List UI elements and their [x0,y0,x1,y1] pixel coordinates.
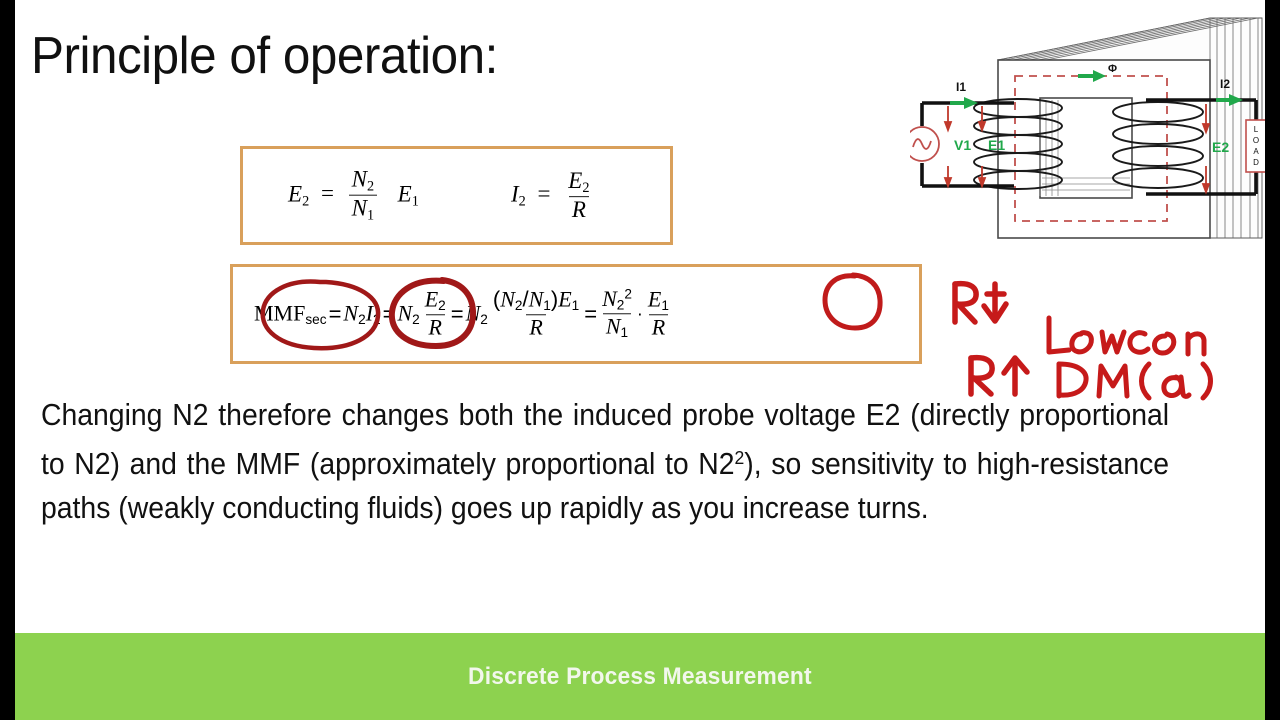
flux-label: Φ [1108,63,1117,75]
eq2-lhs-sub: 2 [519,193,526,209]
page-title: Principle of operation: [31,26,498,86]
term2-den: R [429,315,442,340]
e2-label: E2 [1212,139,1229,155]
term1-n: N [343,301,358,326]
v1-label: V1 [954,137,971,153]
footer-label: Discrete Process Measurement [468,663,812,691]
term4-num2: E [648,287,661,312]
ac-source-icon [910,127,939,161]
eq1-lhs: E [288,181,302,206]
mmf-equals-1: = [329,301,342,327]
eq1-den: N [352,196,367,221]
footer-banner: Discrete Process Measurement [15,633,1265,720]
eq1-num: N [352,166,367,191]
term3-n: N [466,301,481,326]
term1-i: I [366,301,373,326]
eq1-fraction: N2 N1 [349,167,377,224]
term3-den: R [529,315,542,340]
eq2-equals: = [538,181,551,206]
term2-n: N [397,301,412,326]
term4-dot: · [637,304,643,325]
mmf-label: MMF [254,301,305,326]
i2-label: I2 [1220,77,1230,91]
transformer-diagram: Φ [910,8,1265,270]
equation-i2: I2 = E2 R [511,169,595,223]
load-letter-l: L [1254,125,1259,134]
term4-fraction-a: N22 N1 [599,287,635,340]
mmf-equals-3: = [451,301,464,327]
equation-e2: E2 = N2 N1 E1 [288,167,419,224]
term1-i-sub: 2 [373,312,381,327]
eq1-den-sub: 1 [367,208,374,224]
body-paragraph: Changing N2 therefore changes both the i… [41,393,1169,530]
eq1-rhs-sub: 1 [412,193,419,209]
term2-n-sub: 2 [412,312,420,327]
term2-num: E [425,287,438,312]
i1-label: I1 [956,80,966,94]
equation-mmf: MMFsec = N2I2 = N2 E2 R = N2 (N2/N1)E1 R… [253,287,673,340]
eq1-num-sub: 2 [367,178,374,194]
paragraph-superscript: 2 [735,448,745,469]
eq1-rhs: E [398,181,412,206]
formula-box-primary: E2 = N2 N1 E1 I2 = E2 R [240,146,673,245]
mmf-equals-4: = [584,301,597,327]
term4-num: N [602,286,617,311]
v1-arrow-icon [945,106,951,186]
term3-num: (N2/N1)E1 [490,289,582,315]
mmf-sub: sec [305,312,326,327]
mmf-equals-2: = [383,301,396,327]
term2-fraction: E2 R [422,289,449,340]
handwritten-annotations [945,276,1245,401]
eq1-equals: = [321,181,334,206]
eq2-num: E [568,168,582,193]
eq2-lhs: I [511,181,519,206]
term4-num-sup: 2 [624,286,632,301]
eq2-num-sub: 2 [582,180,589,196]
eq1-lhs-sub: 2 [302,193,309,209]
eq2-den: R [572,197,586,222]
term2-num-sub: 2 [438,298,446,313]
slide-canvas: Principle of operation: E2 = N2 N1 E1 I2… [15,0,1265,720]
formula-box-mmf: MMFsec = N2I2 = N2 E2 R = N2 (N2/N1)E1 R… [230,264,922,364]
term4-num2-sub: 1 [661,298,669,313]
term4-den-sub: 1 [621,326,629,341]
load-letter-o: O [1253,136,1259,145]
e1-label: E1 [988,137,1005,153]
term3-n-sub: 2 [480,312,488,327]
term4-den2: R [652,315,665,340]
term4-fraction-b: E1 R [645,289,672,340]
term4-den: N [606,314,621,339]
term1-n-sub: 2 [358,312,366,327]
load-letter-a: A [1253,147,1259,156]
eq2-fraction: E2 R [565,169,592,223]
term3-fraction: (N2/N1)E1 R [490,289,582,340]
load-letter-d: D [1253,158,1259,167]
